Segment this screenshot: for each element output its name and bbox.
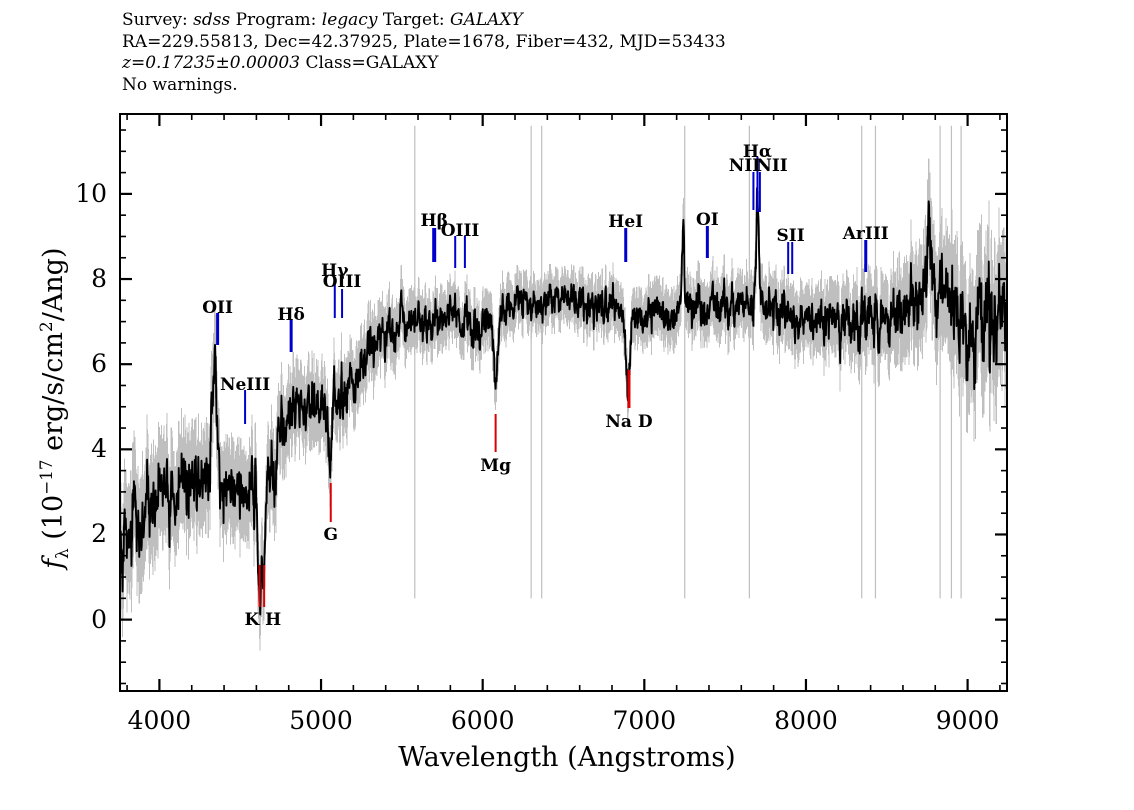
survey-info-part-1: sdss (193, 10, 230, 30)
y-tick-label-6: 6 (47, 351, 107, 376)
line-label-HeI-7: HeI (608, 214, 643, 231)
x-tick-label-9000: 9000 (908, 708, 1028, 733)
survey-info-part-5: GALAXY (450, 10, 523, 30)
x-tick-label-6000: 6000 (423, 708, 543, 733)
metadata-line-redshift: z=0.17235±0.00003 Class=GALAXY (122, 53, 1022, 75)
line-label-H-2: Hδ (277, 307, 304, 324)
line-label-ArIII-13: ArIII (843, 226, 889, 243)
line-label-OII-0: OII (202, 300, 233, 317)
metadata-line-coords: RA=229.55813, Dec=42.37925, Plate=1678, … (122, 32, 1022, 54)
y-axis-symbol: f (38, 559, 69, 569)
line-label-G-15: G (323, 527, 338, 544)
x-tick-label-5000: 5000 (261, 708, 381, 733)
x-axis-title: Wavelength (Angstroms) (0, 742, 1134, 773)
y-tick-label-4: 4 (47, 436, 107, 461)
survey-info-part-3: legacy (322, 10, 378, 30)
metadata-line-warnings: No warnings. (122, 75, 1022, 97)
y-tick-label-2: 2 (47, 521, 107, 546)
y-axis-exponent: −17 (36, 459, 56, 494)
y-tick-label-0: 0 (47, 607, 107, 632)
line-label-OIII-6: OIII (441, 223, 480, 240)
line-label-NaD-17: Na D (605, 414, 652, 431)
y-axis-units-exp: 2 (36, 321, 56, 332)
x-tick-label-7000: 7000 (584, 708, 704, 733)
x-tick-label-8000: 8000 (746, 708, 866, 733)
y-tick-label-10: 10 (47, 181, 107, 206)
metadata-line-survey: Survey: sdss Program: legacy Target: GAL… (122, 10, 1022, 32)
line-label-OI-8: OI (696, 212, 719, 229)
line-label-NII-11: NII (756, 158, 787, 175)
line-label-OIII-4: OIII (323, 274, 362, 291)
y-axis-title: fλ (10−17 erg/s/cm2/Ang) (36, 58, 72, 758)
survey-info-part-2: Program: (230, 10, 322, 30)
spectrum-plot (119, 113, 1008, 692)
survey-info-part-4: Target: (377, 10, 450, 30)
x-tick-label-4000: 4000 (99, 708, 219, 733)
line-label-SII-12: SII (777, 228, 805, 245)
redshift-info-part-1: Class=GALAXY (300, 53, 438, 73)
redshift-info-part-0: z=0.17235±0.00003 (122, 53, 300, 73)
line-label-NeIII-1: NeIII (220, 377, 270, 394)
line-label-KH-14: K H (244, 612, 281, 629)
y-tick-label-8: 8 (47, 266, 107, 291)
axis-ticks (119, 113, 1008, 692)
survey-info-part-0: Survey: (122, 10, 193, 30)
spectrum-page: Survey: sdss Program: legacy Target: GAL… (0, 0, 1134, 810)
spectrum-metadata-header: Survey: sdss Program: legacy Target: GAL… (122, 10, 1022, 96)
line-label-Mg-16: Mg (480, 458, 511, 475)
y-axis-subscript: λ (52, 548, 72, 559)
